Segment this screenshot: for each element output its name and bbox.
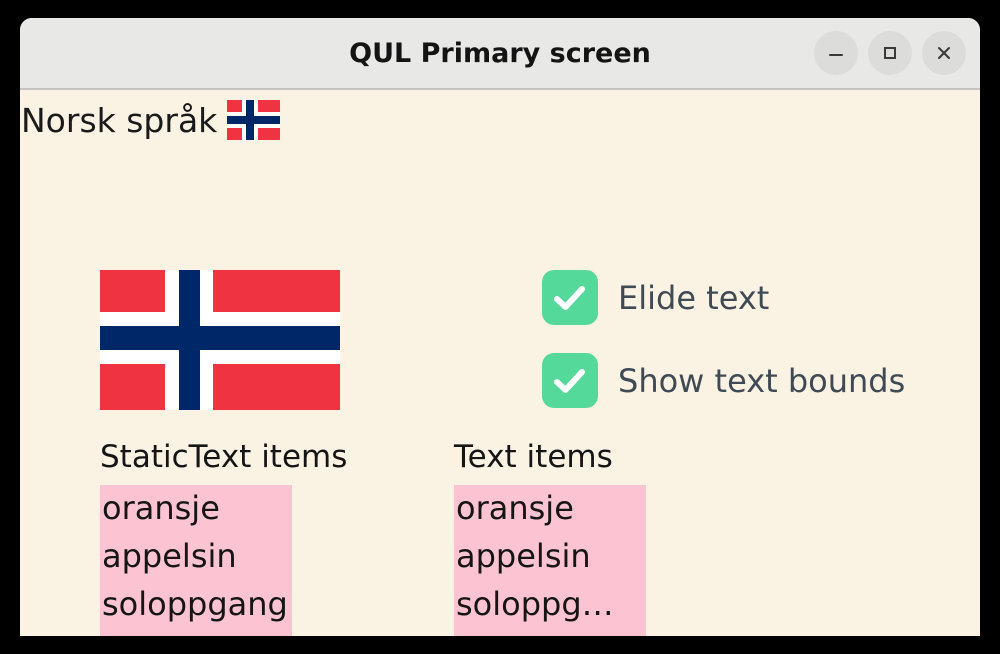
list-item: soloppg… — [454, 581, 646, 629]
maximize-button[interactable] — [868, 31, 912, 75]
list-item: hello — [454, 628, 646, 636]
list-item: soloppgang — [100, 581, 292, 629]
list-item: appelsin — [100, 533, 292, 581]
checkbox-show-text-bounds[interactable] — [542, 353, 598, 408]
maximize-icon — [880, 43, 900, 63]
norwegian-flag-icon-large — [100, 270, 340, 410]
language-row: Norsk språk — [21, 100, 280, 140]
text-items-heading: Text items — [454, 442, 646, 473]
checkbox-elide-text[interactable] — [542, 270, 598, 325]
options-group: Elide text Show text bounds — [542, 270, 905, 436]
flag-navy-vertical — [246, 100, 254, 140]
language-label: Norsk språk — [21, 104, 217, 137]
list-item: oransje — [100, 485, 292, 533]
flag-navy-horizontal — [100, 326, 340, 350]
statictext-items-column: StaticText items oransje appelsin solopp… — [100, 442, 347, 636]
close-button[interactable] — [922, 31, 966, 75]
statictext-items-bounds-box: oransje appelsin soloppgang hello — [100, 485, 292, 636]
window-title: QUL Primary screen — [349, 38, 651, 69]
checkbox-label-elide-text: Elide text — [618, 282, 769, 314]
content-area: Norsk språk — [20, 90, 980, 636]
minimize-button[interactable] — [814, 31, 858, 75]
text-items-bounds-box: oransje appelsin soloppg… hello — [454, 485, 646, 636]
app-window: QUL Primary screen — [20, 18, 980, 636]
text-items-column: Text items oransje appelsin soloppg… hel… — [454, 442, 646, 636]
minimize-icon — [826, 43, 846, 63]
checkmark-icon — [552, 283, 588, 313]
list-item: oransje — [454, 485, 646, 533]
close-icon — [934, 43, 954, 63]
statictext-items-heading: StaticText items — [100, 442, 347, 473]
list-item: hello — [100, 628, 292, 636]
norwegian-flag-icon-small — [227, 100, 280, 140]
window-controls — [814, 31, 966, 75]
checkbox-label-show-text-bounds: Show text bounds — [618, 365, 905, 397]
checkbox-row-elide-text[interactable]: Elide text — [542, 270, 905, 325]
checkbox-row-show-text-bounds[interactable]: Show text bounds — [542, 353, 905, 408]
flag-navy-vertical — [179, 270, 200, 410]
list-item: appelsin — [454, 533, 646, 581]
title-bar: QUL Primary screen — [20, 18, 980, 90]
checkmark-icon — [552, 366, 588, 396]
